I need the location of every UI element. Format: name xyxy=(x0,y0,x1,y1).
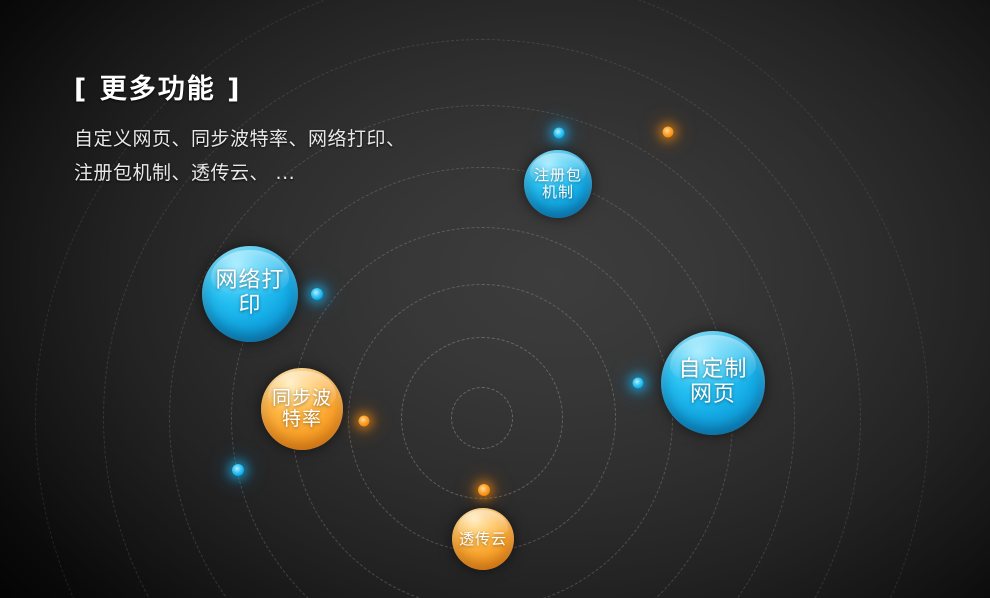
feature-node-registration-packet[interactable]: 注册包机制 xyxy=(524,150,592,218)
feature-node-label: 透传云 xyxy=(455,531,511,548)
feature-node-label-line: 透传云 xyxy=(459,531,507,548)
feature-node-sync-baud-rate[interactable]: 同步波特率 xyxy=(261,368,343,450)
feature-node-label: 注册包机制 xyxy=(530,167,586,201)
feature-node-label-line: 网页 xyxy=(678,383,747,408)
feature-node-label: 自定制网页 xyxy=(674,358,751,407)
orbit-dot-blue xyxy=(633,378,644,389)
description-line: 自定义网页、同步波特率、网络打印、 xyxy=(74,122,494,156)
feature-node-custom-webpage[interactable]: 自定制网页 xyxy=(661,331,765,435)
orbit-dot-blue xyxy=(554,128,565,139)
feature-node-label-line: 网络打印 xyxy=(206,269,294,318)
orbit-dot-orange xyxy=(478,484,490,496)
feature-node-label-line: 自定制 xyxy=(678,358,747,383)
orbit-dot-orange xyxy=(359,416,370,427)
feature-node-network-printing[interactable]: 网络打印 xyxy=(202,246,298,342)
feature-node-label-line: 注册包 xyxy=(534,167,582,184)
orbit-dot-orange xyxy=(663,127,674,138)
feature-node-label: 网络打印 xyxy=(202,269,298,318)
page-title: [ 更多功能 ] xyxy=(74,74,494,106)
feature-node-label-line: 机制 xyxy=(534,184,582,201)
orbit-dot-blue xyxy=(232,464,244,476)
slide-canvas: [ 更多功能 ] 自定义网页、同步波特率、网络打印、注册包机制、透传云、 ...… xyxy=(0,0,990,598)
orbit-dot-blue xyxy=(311,288,323,300)
orbit-ring xyxy=(401,337,563,499)
feature-node-label-line: 特率 xyxy=(272,409,332,430)
feature-node-transparent-cloud[interactable]: 透传云 xyxy=(452,508,514,570)
feature-node-label-line: 同步波 xyxy=(272,388,332,409)
orbit-ring xyxy=(451,387,513,449)
headline-block: [ 更多功能 ] 自定义网页、同步波特率、网络打印、注册包机制、透传云、 ... xyxy=(74,74,494,190)
description-line: 注册包机制、透传云、 ... xyxy=(74,156,494,190)
feature-node-label: 同步波特率 xyxy=(268,388,336,431)
description-text: 自定义网页、同步波特率、网络打印、注册包机制、透传云、 ... xyxy=(74,122,494,190)
